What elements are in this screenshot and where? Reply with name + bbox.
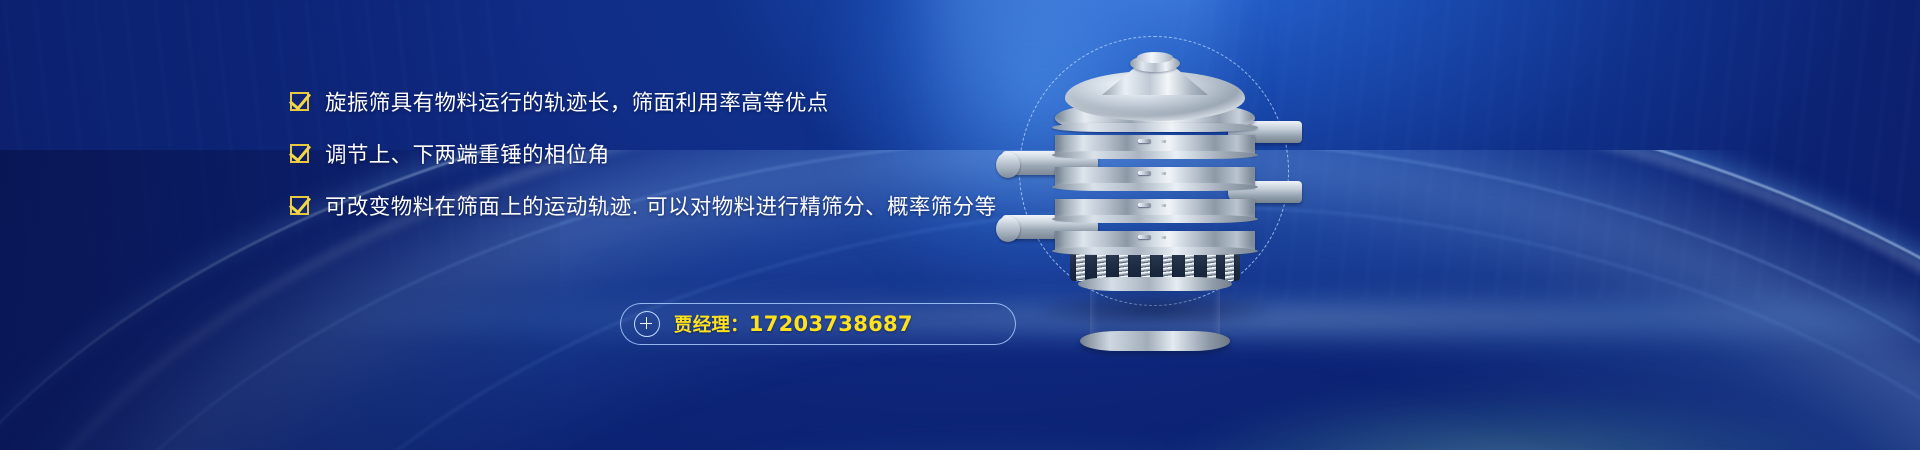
screen-deck-edge-5: [1052, 247, 1258, 255]
deck-bolt: [1160, 236, 1166, 239]
rotary-vibrating-screen-image: [1010, 55, 1300, 320]
feature-list: 旋振筛具有物料运行的轨迹长，筛面利用率高等优点 调节上、下两端重锤的相位角 可改…: [290, 86, 1050, 242]
plus-circle-icon: [634, 311, 660, 337]
checkbox-checked-icon: [290, 144, 309, 163]
spring: [1225, 251, 1234, 281]
deck-bolt: [1138, 203, 1151, 207]
screen-deck-edge-4: [1052, 215, 1258, 223]
machine-lid-knob-top: [1137, 52, 1173, 63]
spring: [1076, 251, 1085, 281]
machine-pedestal-base: [1080, 331, 1230, 351]
deck-bolt: [1138, 171, 1151, 175]
deck-bolt: [1160, 204, 1166, 207]
screen-deck-edge-2: [1052, 151, 1258, 159]
deck-bolt: [1160, 140, 1166, 143]
checkbox-checked-icon: [290, 92, 309, 111]
feature-text: 旋振筛具有物料运行的轨迹长，筛面利用率高等优点: [325, 86, 829, 117]
deck-bolt: [1160, 172, 1166, 175]
spring: [1207, 251, 1216, 281]
machine-base-collar: [1078, 277, 1232, 291]
feature-text: 可改变物料在筛面上的运动轨迹. 可以对物料进行精筛分、概率筛分等: [325, 190, 996, 221]
contact-phone-number: 17203738687: [749, 312, 913, 336]
contact-label: 贾经理：: [674, 311, 749, 337]
feature-item-1: 旋振筛具有物料运行的轨迹长，筛面利用率高等优点: [290, 86, 1050, 117]
feature-text: 调节上、下两端重锤的相位角: [325, 138, 610, 169]
feature-item-2: 调节上、下两端重锤的相位角: [290, 138, 1050, 169]
deck-bolt: [1138, 139, 1151, 143]
screen-deck-edge-3: [1052, 183, 1258, 191]
checkbox-checked-icon: [290, 196, 309, 215]
promo-banner: 旋振筛具有物料运行的轨迹长，筛面利用率高等优点 调节上、下两端重锤的相位角 可改…: [0, 0, 1920, 450]
feature-item-3: 可改变物料在筛面上的运动轨迹. 可以对物料进行精筛分、概率筛分等: [290, 190, 1050, 221]
screen-deck-edge-1: [1052, 123, 1258, 132]
deck-bolt: [1138, 235, 1151, 239]
contact-phone-button[interactable]: 贾经理： 17203738687: [620, 303, 1016, 345]
